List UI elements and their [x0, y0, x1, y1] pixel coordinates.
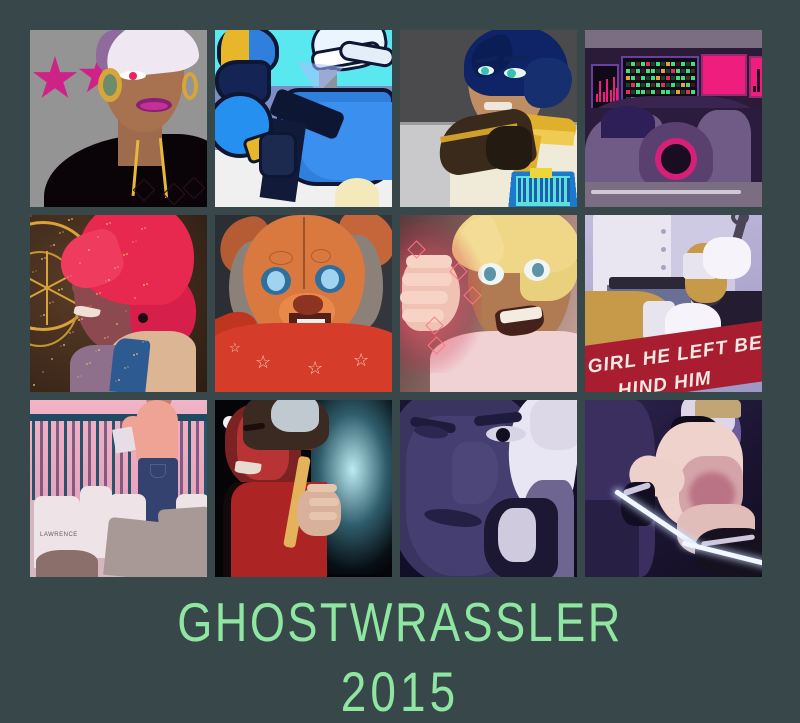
- star-speck: [146, 283, 148, 285]
- fence-rail: [48, 414, 51, 500]
- insignia-bar: [540, 178, 543, 202]
- star-speck: [107, 336, 109, 338]
- fence-rail: [40, 414, 43, 500]
- monitor-led: [666, 62, 670, 66]
- poster-belt: [609, 277, 687, 289]
- art-panel-graveyard-fence[interactable]: LAWRENCE FORS: [30, 400, 207, 577]
- inner-collar: [109, 337, 150, 392]
- art-panel-red-lit-duelist[interactable]: [215, 400, 392, 577]
- star-speck: [69, 332, 71, 334]
- art-panel-blue-haired-officer[interactable]: [400, 30, 577, 207]
- art-summary-card: ☆ ☆ ☆ ☆: [0, 0, 800, 701]
- insignia-bar: [545, 178, 548, 202]
- monitor-led: [661, 69, 665, 73]
- monitor-led: [626, 69, 630, 73]
- mech-lower-plate: [335, 178, 379, 207]
- monitor-led: [681, 83, 685, 87]
- jeans-pocket: [150, 464, 166, 478]
- uniform-glove: [486, 126, 532, 170]
- art-panel-cockpit-controls[interactable]: [585, 30, 762, 207]
- fursuit-seam: [303, 217, 305, 289]
- monitor-led: [651, 83, 655, 87]
- monitor-led: [686, 83, 690, 87]
- monitor-led: [671, 69, 675, 73]
- gravestone-inscription: LAWRENCE: [40, 532, 78, 538]
- star-speck: [43, 314, 45, 316]
- monitor-led: [676, 62, 680, 66]
- star-speck: [145, 340, 147, 342]
- fence-rail: [188, 414, 191, 500]
- bandana-star: ☆: [307, 359, 327, 379]
- monitor-led: [671, 83, 675, 87]
- insignia-bar: [556, 178, 559, 202]
- monitor-led: [651, 76, 655, 80]
- star-speck: [71, 218, 73, 220]
- monitor-led: [646, 90, 650, 94]
- fence-rail: [32, 414, 35, 500]
- fursuit-marking: [311, 249, 331, 263]
- monitor-led: [646, 69, 650, 73]
- paper-sheet: [112, 426, 136, 453]
- star-speck: [99, 292, 101, 294]
- monitor-led: [666, 83, 670, 87]
- hand-finger: [309, 512, 337, 520]
- star-speck: [40, 315, 42, 317]
- star-speck: [134, 297, 136, 299]
- art-panel-turbaned-woman-stars[interactable]: [30, 30, 207, 207]
- monitor-led: [686, 76, 690, 80]
- figure-hair: [530, 400, 577, 450]
- white-glove: [703, 237, 751, 279]
- monitor-bar: [610, 90, 612, 102]
- monitor-led: [661, 76, 665, 80]
- star-speck: [52, 301, 54, 303]
- caption-year: 2015: [72, 650, 728, 720]
- monitor-led: [636, 69, 640, 73]
- star-speck: [31, 328, 33, 330]
- hand-finger: [406, 255, 452, 268]
- hand-finger: [402, 273, 452, 286]
- hand-finger: [307, 484, 337, 492]
- star-speck: [80, 375, 82, 377]
- star-speck: [88, 249, 90, 251]
- star-speck: [61, 288, 63, 290]
- figure-nose: [452, 442, 498, 504]
- star-speck: [132, 241, 134, 243]
- star-speck: [95, 350, 97, 352]
- cockpit-frame-top: [585, 30, 762, 48]
- star-speck: [77, 376, 79, 378]
- star-speck: [68, 219, 70, 221]
- pupil: [532, 263, 544, 277]
- monitor-led: [626, 83, 630, 87]
- star-speck: [41, 258, 43, 260]
- monitor-led: [676, 76, 680, 80]
- beard-highlight: [498, 508, 536, 562]
- star-speck: [49, 302, 51, 304]
- star-speck: [87, 306, 89, 308]
- cockpit-monitor: [701, 54, 747, 96]
- star-speck: [144, 227, 146, 229]
- monitor-led: [691, 90, 695, 94]
- insignia-bar: [529, 178, 532, 202]
- monitor-led: [651, 62, 655, 66]
- monitor-bar: [753, 86, 756, 92]
- monitor-led: [666, 69, 670, 73]
- monitor-led: [691, 76, 695, 80]
- monitor-bar: [606, 79, 608, 102]
- monitor-bar: [599, 81, 601, 102]
- head-wrap: [104, 30, 201, 79]
- star-speck: [126, 253, 128, 255]
- monitor-led: [656, 76, 660, 80]
- figure-hair-gray: [271, 400, 319, 432]
- monitor-led: [671, 90, 675, 94]
- monitor-led: [656, 69, 660, 73]
- star-speck: [63, 344, 65, 346]
- fursuit-nose: [293, 295, 323, 315]
- star-speck: [35, 270, 37, 272]
- yoke-hub-inner: [661, 144, 691, 174]
- star-speck: [62, 231, 64, 233]
- star-speck: [143, 284, 145, 286]
- mech-glove: [259, 132, 297, 178]
- gravestone-foreground: [103, 517, 173, 577]
- monitor-led: [661, 62, 665, 66]
- star-speck: [135, 240, 137, 242]
- pupil: [129, 72, 137, 80]
- star-speck: [34, 327, 36, 329]
- star-speck: [42, 371, 44, 373]
- star-speck: [124, 367, 126, 369]
- star-speck: [81, 318, 83, 320]
- monitor-led: [656, 90, 660, 94]
- art-panel-orange-fursuit[interactable]: ☆ ☆ ☆ ☆: [215, 215, 392, 392]
- monitor-bar: [757, 69, 760, 92]
- star-speck: [59, 232, 61, 234]
- star-shape: [32, 56, 78, 102]
- monitor-led: [651, 69, 655, 73]
- monitor-led: [636, 76, 640, 80]
- monitor-led: [646, 62, 650, 66]
- star-speck: [109, 222, 111, 224]
- star-speck: [70, 275, 72, 277]
- monitor-led: [686, 69, 690, 73]
- art-panel-red-haired-profile[interactable]: [30, 215, 207, 392]
- monitor-led: [631, 69, 635, 73]
- star-speck: [53, 244, 55, 246]
- monitor-led: [681, 90, 685, 94]
- monitor-led: [676, 90, 680, 94]
- lips-highlight: [140, 102, 168, 110]
- bandana-star: ☆: [229, 339, 249, 359]
- monitor-led: [691, 83, 695, 87]
- monitor-led: [641, 76, 645, 80]
- monitor-led: [691, 62, 695, 66]
- art-panel-blonde-startled-magic[interactable]: [400, 215, 577, 392]
- star-speck: [58, 289, 60, 291]
- monitor-led: [681, 69, 685, 73]
- shirt-button: [661, 229, 666, 234]
- cockpit-trim: [591, 190, 741, 194]
- fence-rail: [64, 414, 67, 500]
- monitor-led: [646, 83, 650, 87]
- star-speck: [44, 257, 46, 259]
- monitor-led: [631, 76, 635, 80]
- star-speck: [72, 331, 74, 333]
- fence-rail: [112, 414, 115, 500]
- monitor-led: [641, 83, 645, 87]
- star-speck: [33, 384, 35, 386]
- monitor-led: [631, 62, 635, 66]
- star-speck: [51, 358, 53, 360]
- star-speck: [50, 245, 52, 247]
- star-speck: [108, 279, 110, 281]
- monitor-led: [666, 90, 670, 94]
- star-speck: [117, 266, 119, 268]
- monitor-led: [661, 83, 665, 87]
- monitor-led: [666, 76, 670, 80]
- insignia-bar: [523, 178, 526, 202]
- eye-iris: [267, 271, 285, 291]
- star-speck: [97, 236, 99, 238]
- hand-finger: [400, 291, 448, 304]
- uniform-insignia-accent: [530, 168, 552, 178]
- bandana-star: ☆: [353, 351, 373, 371]
- earring-inner: [103, 74, 117, 96]
- monitor-led: [626, 62, 630, 66]
- page-title: GHOSTWRASSLER: [72, 587, 728, 650]
- gravestone-foreground: [36, 550, 98, 577]
- pupil: [507, 69, 516, 78]
- star-speck: [133, 354, 135, 356]
- star-speck: [67, 276, 69, 278]
- earring: [138, 313, 148, 323]
- monitor-led: [671, 62, 675, 66]
- art-panel-vintage-poster-banner[interactable]: GIRL HE LEFT BEH HIND HIM: [585, 215, 762, 392]
- star-speck: [127, 366, 129, 368]
- pupil: [496, 428, 510, 442]
- star-speck: [105, 280, 107, 282]
- monitor-led: [671, 76, 675, 80]
- art-panel-blue-mech-fighter[interactable]: [215, 30, 392, 207]
- star-speck: [30, 215, 32, 217]
- insignia-bar: [518, 178, 521, 202]
- fence-rail: [204, 414, 207, 500]
- star-speck: [79, 262, 81, 264]
- cockpit-monitor: [749, 56, 762, 98]
- monitor-led: [641, 62, 645, 66]
- star-speck: [118, 379, 120, 381]
- shirt-button: [661, 247, 666, 252]
- monitor-led: [676, 69, 680, 73]
- star-speck: [32, 271, 34, 273]
- star-speck: [78, 319, 80, 321]
- eye-iris: [321, 269, 339, 289]
- monitor-bar: [613, 77, 615, 102]
- insignia-bar: [567, 178, 570, 202]
- monitor-led: [636, 62, 640, 66]
- monitor-led: [631, 90, 635, 94]
- star-speck: [142, 341, 144, 343]
- monitor-led: [686, 90, 690, 94]
- cockpit-frame-bottom: [585, 182, 762, 207]
- person-jacket: [136, 400, 178, 462]
- art-panel-purple-swordfighter[interactable]: [585, 400, 762, 577]
- fence-top-bar: [30, 414, 207, 421]
- figure-hair-side: [524, 58, 572, 108]
- pupil: [481, 67, 489, 75]
- monitor-led: [641, 69, 645, 73]
- star-speck: [96, 293, 98, 295]
- star-speck: [60, 345, 62, 347]
- hand-finger: [309, 498, 339, 506]
- star-speck: [116, 323, 118, 325]
- monitor-led: [681, 76, 685, 80]
- insignia-bar: [561, 178, 564, 202]
- fence-rail: [56, 414, 59, 500]
- monitor-led: [686, 62, 690, 66]
- star-speck: [115, 380, 117, 382]
- star-speck: [106, 223, 108, 225]
- caption-block: GHOSTWRASSLER 2015: [0, 587, 800, 720]
- star-speck: [86, 363, 88, 365]
- fursuit-marking: [269, 251, 293, 265]
- star-speck: [123, 254, 125, 256]
- monitor-led: [681, 62, 685, 66]
- monitor-led: [631, 83, 635, 87]
- monitor-led: [656, 83, 660, 87]
- star-speck: [104, 337, 106, 339]
- bandana-star: ☆: [255, 353, 275, 373]
- art-grid: ☆ ☆ ☆ ☆: [30, 30, 770, 577]
- earring-hoop: [182, 72, 198, 100]
- monitor-bar: [596, 94, 598, 102]
- fence-rail: [180, 414, 183, 500]
- monitor-led: [676, 83, 680, 87]
- monitor-led: [661, 90, 665, 94]
- star-speck: [114, 267, 116, 269]
- monitor-led: [651, 90, 655, 94]
- monitor-bar: [603, 92, 605, 102]
- monitor-led: [626, 76, 630, 80]
- star-speck: [89, 362, 91, 364]
- fence-rail: [72, 414, 75, 500]
- star-speck: [136, 353, 138, 355]
- shirt-button: [661, 265, 666, 270]
- fence-rail: [196, 414, 199, 500]
- monitor-led: [656, 62, 660, 66]
- art-panel-bearded-man-closeup[interactable]: [400, 400, 577, 577]
- star-speck: [98, 349, 100, 351]
- pupil: [484, 267, 496, 281]
- insignia-bar: [550, 178, 553, 202]
- monitor-led: [641, 90, 645, 94]
- monitor-led: [636, 83, 640, 87]
- monitor-led: [691, 69, 695, 73]
- star-speck: [90, 305, 92, 307]
- monitor-led: [646, 76, 650, 80]
- insignia-bar: [534, 178, 537, 202]
- monitor-led: [626, 90, 630, 94]
- monitor-led: [636, 90, 640, 94]
- star-speck: [125, 310, 127, 312]
- star-speck: [141, 228, 143, 230]
